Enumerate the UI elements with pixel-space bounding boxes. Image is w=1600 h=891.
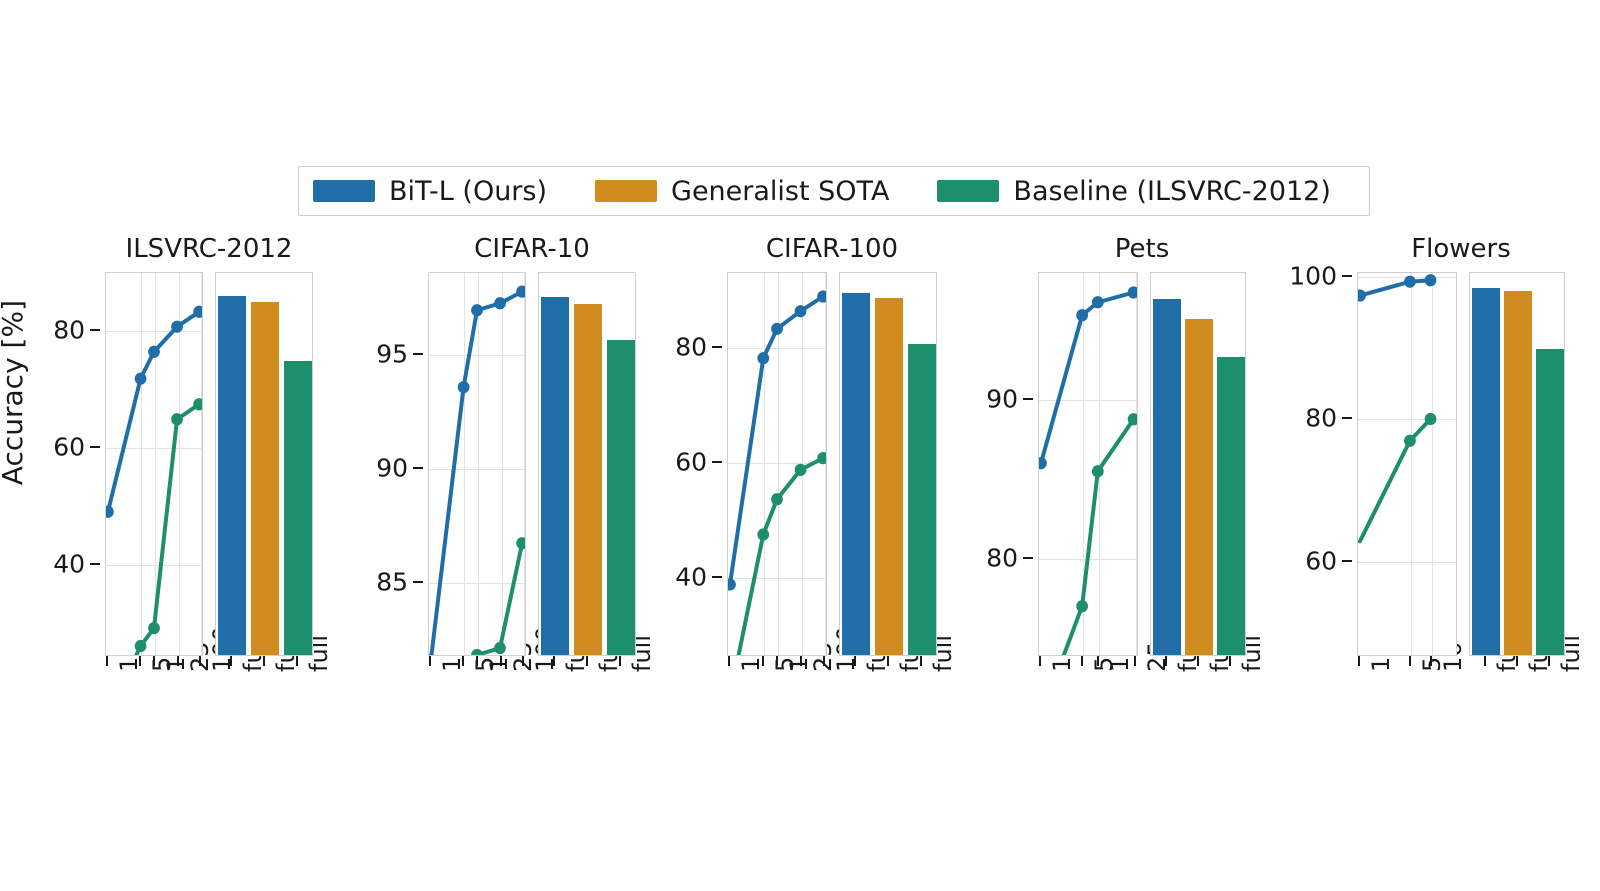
chart-panel: Flowers60801001510fullfullfull (1357, 236, 1565, 656)
series-marker (135, 373, 147, 385)
series-marker (471, 304, 483, 316)
y-tick-mark (712, 461, 722, 463)
series-line (1360, 419, 1431, 541)
line-plot-axes (1038, 272, 1138, 656)
series-canvas (1039, 273, 1137, 655)
legend-entry: Baseline (ILSVRC-2012) (937, 178, 1330, 205)
series-marker (148, 346, 160, 358)
bar (875, 298, 903, 655)
bar-plot-axes (839, 272, 937, 656)
y-tick-label: 80 (649, 334, 707, 359)
series-marker (494, 642, 506, 654)
y-tick-mark (413, 353, 423, 355)
panel-title: CIFAR-10 (428, 236, 636, 262)
y-tick-mark (1023, 398, 1033, 400)
line-plot-axes (727, 272, 827, 656)
x-tick-label: 1 (117, 657, 141, 672)
panel-title: Flowers (1357, 236, 1565, 262)
chart-panel: ILSVRC-2012406080151025100fullfullfull (105, 236, 313, 656)
bar (842, 293, 870, 655)
axes-wrapper (105, 272, 313, 656)
legend-label: Generalist SOTA (671, 178, 889, 205)
panel-title: ILSVRC-2012 (105, 236, 313, 262)
series-marker (757, 528, 769, 540)
bar-plot-axes (1469, 272, 1565, 656)
series-marker (171, 413, 183, 425)
y-tick-label: 95 (350, 342, 408, 367)
series-marker (171, 321, 183, 333)
legend-swatch-icon (937, 180, 999, 202)
series-marker (148, 622, 160, 634)
y-tick-label: 60 (27, 435, 85, 460)
bar (574, 304, 602, 655)
series-marker (1092, 296, 1104, 308)
series-marker (1038, 457, 1047, 469)
x-tick-label: 1 (739, 657, 763, 672)
y-tick-label: 100 (1279, 264, 1337, 289)
series-marker (428, 654, 437, 656)
series-marker (1128, 286, 1138, 298)
series-marker (771, 323, 783, 335)
chart-panel: CIFAR-10859095151025100fullfullfull (428, 236, 636, 656)
y-tick-label: 80 (1279, 406, 1337, 431)
y-tick-mark (712, 576, 722, 578)
bar (1153, 299, 1181, 655)
panel-title: CIFAR-100 (727, 236, 937, 262)
x-tick-label: 1 (1369, 657, 1393, 672)
series-canvas (728, 273, 826, 655)
y-tick-label: 85 (350, 570, 408, 595)
panel-title: Pets (1038, 236, 1246, 262)
y-tick-mark (1342, 275, 1352, 277)
y-tick-label: 40 (649, 564, 707, 589)
y-tick-label: 80 (27, 318, 85, 343)
series-line (108, 404, 199, 656)
series-marker (795, 464, 807, 476)
series-marker (494, 297, 506, 309)
series-marker (516, 537, 526, 549)
x-tick-label: 1 (1050, 657, 1074, 672)
chart-legend: BiT-L (Ours)Generalist SOTABaseline (ILS… (298, 166, 1370, 216)
axes-wrapper (1038, 272, 1246, 656)
bar (251, 302, 279, 655)
series-marker (1425, 413, 1437, 425)
series-marker (1357, 289, 1366, 301)
y-tick-label: 60 (1279, 548, 1337, 573)
series-marker (1404, 276, 1416, 288)
y-tick-label: 90 (960, 387, 1018, 412)
series-marker (795, 305, 807, 317)
legend-entry: BiT-L (Ours) (313, 178, 547, 205)
series-marker (1092, 465, 1104, 477)
line-plot-axes (1357, 272, 1457, 656)
bar (284, 361, 312, 655)
bar-plot-axes (215, 272, 313, 656)
axes-wrapper (727, 272, 937, 656)
series-marker (1076, 600, 1088, 612)
bar-plot-axes (1150, 272, 1246, 656)
series-marker (471, 649, 483, 656)
bar (908, 344, 936, 655)
y-tick-mark (90, 446, 100, 448)
series-marker (135, 640, 147, 652)
legend-label: Baseline (ILSVRC-2012) (1013, 178, 1330, 205)
series-line (1360, 280, 1431, 295)
figure-root: BiT-L (Ours)Generalist SOTABaseline (ILS… (0, 0, 1600, 891)
series-line (1041, 419, 1134, 656)
series-canvas (106, 273, 202, 655)
y-tick-mark (1342, 417, 1352, 419)
axes-wrapper (428, 272, 636, 656)
series-line (464, 543, 523, 656)
y-tick-mark (712, 346, 722, 348)
series-marker (1076, 309, 1088, 321)
legend-label: BiT-L (Ours) (389, 178, 547, 205)
y-tick-mark (90, 329, 100, 331)
bar (1536, 349, 1564, 655)
line-plot-axes (105, 272, 203, 656)
bar (607, 340, 635, 655)
y-tick-label: 40 (27, 552, 85, 577)
y-tick-mark (1023, 557, 1033, 559)
bar (1217, 357, 1245, 655)
y-tick-mark (413, 467, 423, 469)
series-marker (105, 506, 114, 518)
bar (1472, 288, 1500, 655)
y-tick-mark (413, 581, 423, 583)
bar (541, 297, 569, 655)
chart-panel: Pets8090151025fullfullfull (1038, 236, 1246, 656)
x-tick-label: 1 (440, 657, 464, 672)
y-tick-label: 60 (649, 449, 707, 474)
series-marker (771, 493, 783, 505)
legend-swatch-icon (595, 180, 657, 202)
axes-wrapper (1357, 272, 1565, 656)
y-tick-mark (1342, 560, 1352, 562)
series-marker (727, 578, 736, 590)
bar (1504, 291, 1532, 655)
bar (218, 296, 246, 655)
line-plot-axes (428, 272, 526, 656)
series-line (730, 297, 823, 585)
legend-entry: Generalist SOTA (595, 178, 889, 205)
y-tick-label: 80 (960, 546, 1018, 571)
series-marker (458, 381, 470, 393)
chart-panel: CIFAR-100406080151025100fullfullfull (727, 236, 937, 656)
y-axis-title: Accuracy [%] (0, 300, 29, 485)
series-marker (1425, 274, 1437, 286)
legend-swatch-icon (313, 180, 375, 202)
series-marker (1404, 435, 1416, 447)
y-tick-mark (90, 563, 100, 565)
series-canvas (1358, 273, 1456, 655)
bar (1185, 319, 1213, 655)
series-canvas (429, 273, 525, 655)
bar-plot-axes (538, 272, 636, 656)
series-marker (757, 352, 769, 364)
y-tick-label: 90 (350, 456, 408, 481)
